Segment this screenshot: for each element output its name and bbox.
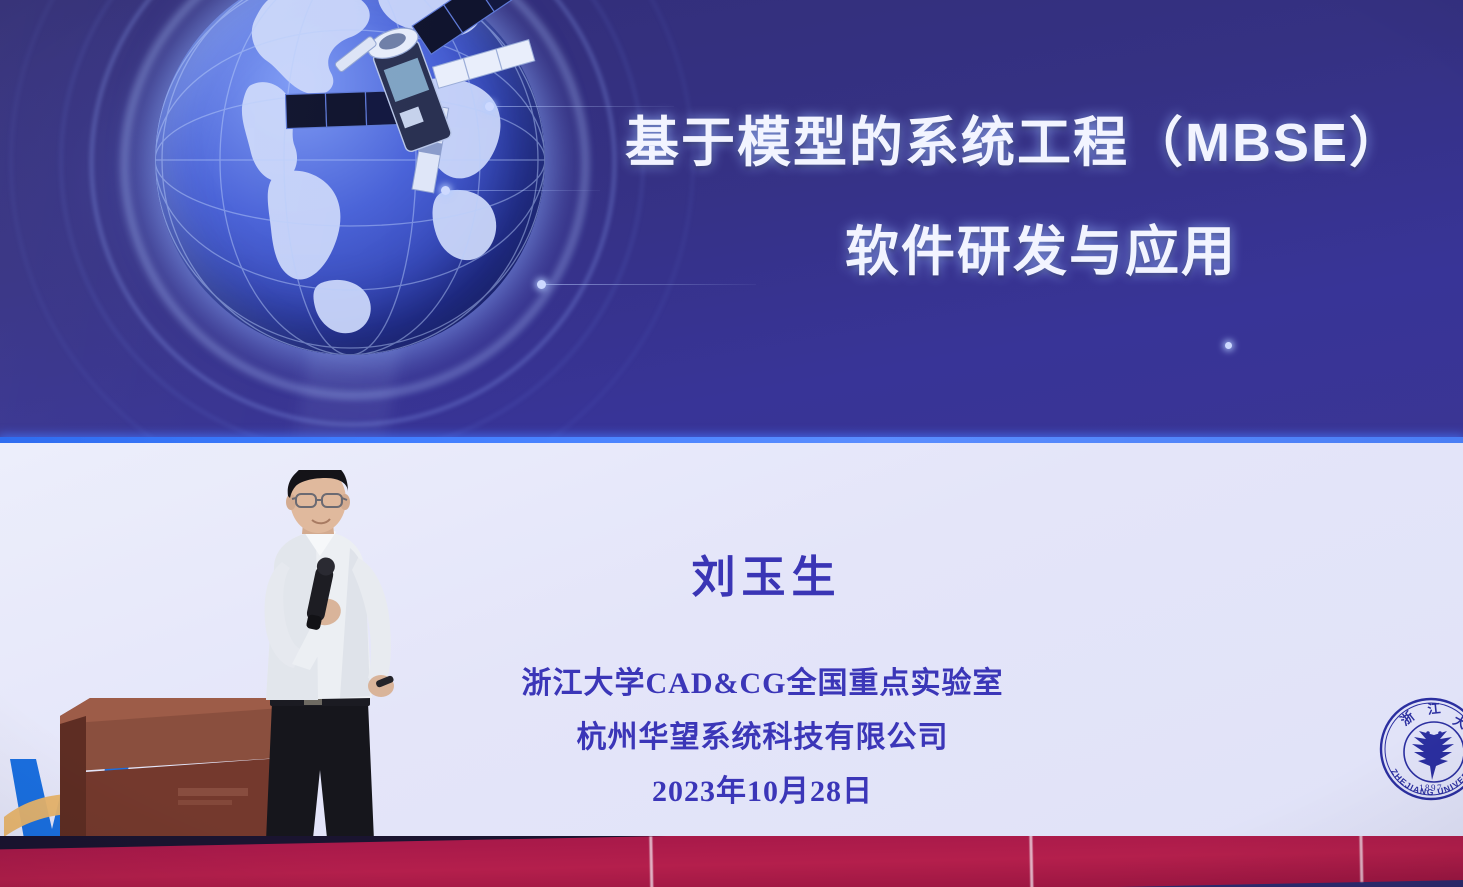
svg-text:江: 江 bbox=[1427, 701, 1442, 717]
svg-text:浙: 浙 bbox=[1398, 709, 1417, 729]
network-line bbox=[450, 190, 600, 191]
network-node bbox=[485, 102, 494, 111]
slide-title-line-2: 软件研发与应用 bbox=[845, 207, 1237, 286]
network-node bbox=[441, 186, 450, 195]
slide-title-line-1: 基于模型的系统工程（MBSE） bbox=[625, 98, 1405, 177]
network-line bbox=[546, 284, 756, 285]
carpet-seam bbox=[649, 836, 653, 887]
zhejiang-university-seal-icon: 浙 江 大 1897 ZHEJIANG UNIVERSITY bbox=[1372, 690, 1463, 808]
network-node bbox=[537, 280, 546, 289]
carpet-seam bbox=[1029, 836, 1033, 887]
globe-with-satellite-graphic bbox=[70, 0, 630, 440]
stage-floor bbox=[0, 836, 1463, 887]
slide-upper-panel: 基于模型的系统工程（MBSE） 软件研发与应用 bbox=[0, 0, 1463, 443]
carpet-seam bbox=[1359, 836, 1363, 882]
presentation-photo: 基于模型的系统工程（MBSE） 软件研发与应用 刘玉生 浙江大学CAD&CG全国… bbox=[0, 0, 1463, 887]
presenter bbox=[200, 470, 430, 887]
network-node bbox=[1225, 342, 1232, 349]
satellite-icon bbox=[285, 0, 545, 200]
